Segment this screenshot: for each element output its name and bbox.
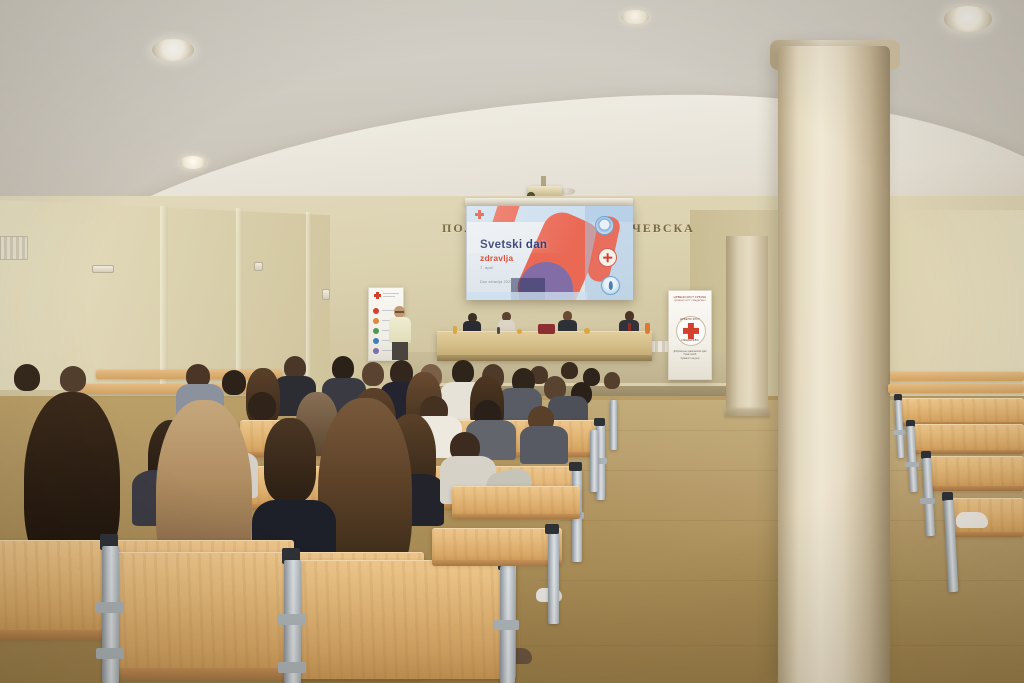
column-secondary-shadow bbox=[724, 408, 770, 418]
audience-head bbox=[60, 366, 86, 392]
floor-seam-5 bbox=[520, 645, 1024, 646]
audience-head bbox=[248, 392, 276, 420]
audience-hair-long bbox=[264, 418, 316, 502]
speaker-glasses-icon bbox=[395, 311, 404, 313]
downlight-3 bbox=[180, 156, 206, 169]
downlight-4 bbox=[621, 10, 649, 24]
bench-row-right-far-2 bbox=[888, 384, 1024, 393]
banner-dot-5 bbox=[373, 348, 379, 354]
audience-shoe bbox=[956, 512, 988, 528]
bench-leg-aisle-2 bbox=[610, 400, 617, 450]
slide-content: Svetski dan zdravlja 7. april Dan zdravl… bbox=[467, 206, 633, 300]
audience-torso bbox=[520, 426, 568, 464]
photo-scene: ПОЉОП ЧЕВСКА Svetski dan zdravlja 7. apr… bbox=[0, 0, 1024, 683]
bench-leg-aisle bbox=[590, 430, 598, 492]
wall-plate-2 bbox=[254, 262, 263, 271]
column-secondary bbox=[726, 236, 768, 416]
banner-dot-1 bbox=[373, 308, 379, 314]
slide-subtitle: zdravlja bbox=[480, 253, 513, 263]
audience-head bbox=[222, 370, 246, 395]
banner-dot-2 bbox=[373, 318, 379, 324]
red-cross-emblem-icon bbox=[598, 248, 617, 267]
screen-roller-case bbox=[465, 198, 633, 206]
downlight-1 bbox=[944, 6, 992, 32]
banner-heading-line-1: ЦРВЕНИ КРСТ СРБИЈЕ bbox=[669, 296, 711, 299]
wall-pilaster-3 bbox=[306, 212, 312, 382]
speaker-trousers bbox=[392, 342, 408, 360]
audience-head bbox=[561, 362, 578, 379]
table-cup-1 bbox=[517, 329, 522, 334]
roll-up-banner-red-cross: ЦРВЕНИ КРСТ СРБИЈЕ ЦРВЕНИ КРСТ СМЕДЕРЕВО… bbox=[668, 290, 712, 380]
projection-screen: Svetski dan zdravlja 7. april Dan zdravl… bbox=[466, 206, 633, 300]
audience-head bbox=[332, 356, 354, 380]
audience-head bbox=[604, 372, 620, 389]
wall-vent bbox=[0, 236, 28, 260]
speaker-shirt bbox=[389, 317, 411, 343]
slide-line-2: Dan zdravlja 2023. bbox=[480, 280, 514, 284]
wall-plate-1 bbox=[92, 265, 114, 273]
downlight-2 bbox=[152, 39, 194, 61]
seal-top-text: ЦРВЕНИ КРСТ bbox=[669, 318, 711, 321]
water-drop-emblem-icon bbox=[601, 276, 620, 295]
table-bottle-1 bbox=[453, 326, 457, 334]
slide-red-cross-icon bbox=[475, 210, 484, 219]
wall-pilaster-1 bbox=[160, 206, 168, 386]
audience-head bbox=[14, 364, 40, 391]
audience-head bbox=[362, 362, 384, 386]
slide-title: Svetski dan bbox=[480, 239, 547, 251]
table-folder bbox=[538, 324, 555, 334]
audience-head bbox=[452, 360, 474, 384]
wall-text-right: ЧЕВСКА bbox=[632, 221, 695, 236]
banner-footer-line-3: Хуманост на делу bbox=[669, 358, 711, 361]
standing-speaker bbox=[389, 306, 411, 358]
column-main bbox=[778, 46, 890, 683]
table-cup-2 bbox=[584, 328, 590, 334]
table-mic bbox=[497, 327, 500, 334]
table-bottle-2 bbox=[645, 323, 650, 334]
banner-dot-4 bbox=[373, 338, 379, 344]
banner-heading-line-2: ЦРВЕНИ КРСТ СМЕДЕРЕВО bbox=[669, 300, 711, 302]
panel-table bbox=[437, 331, 652, 358]
bench-row-right-far-1 bbox=[890, 372, 1024, 381]
wall-plate-3 bbox=[322, 289, 330, 300]
panel-table-front bbox=[437, 355, 652, 361]
slide-line-1: 7. april bbox=[480, 265, 494, 270]
banner-left-red-cross-icon bbox=[374, 292, 381, 299]
seal-bottom-text: СМЕДЕРЕВО bbox=[669, 339, 711, 342]
wall-pilaster-2 bbox=[236, 208, 243, 384]
banner-footer: Добровољно давалаштво крви Прва помоћ Ху… bbox=[669, 351, 711, 361]
banner-dot-3 bbox=[373, 328, 379, 334]
who-emblem-icon bbox=[595, 216, 614, 235]
